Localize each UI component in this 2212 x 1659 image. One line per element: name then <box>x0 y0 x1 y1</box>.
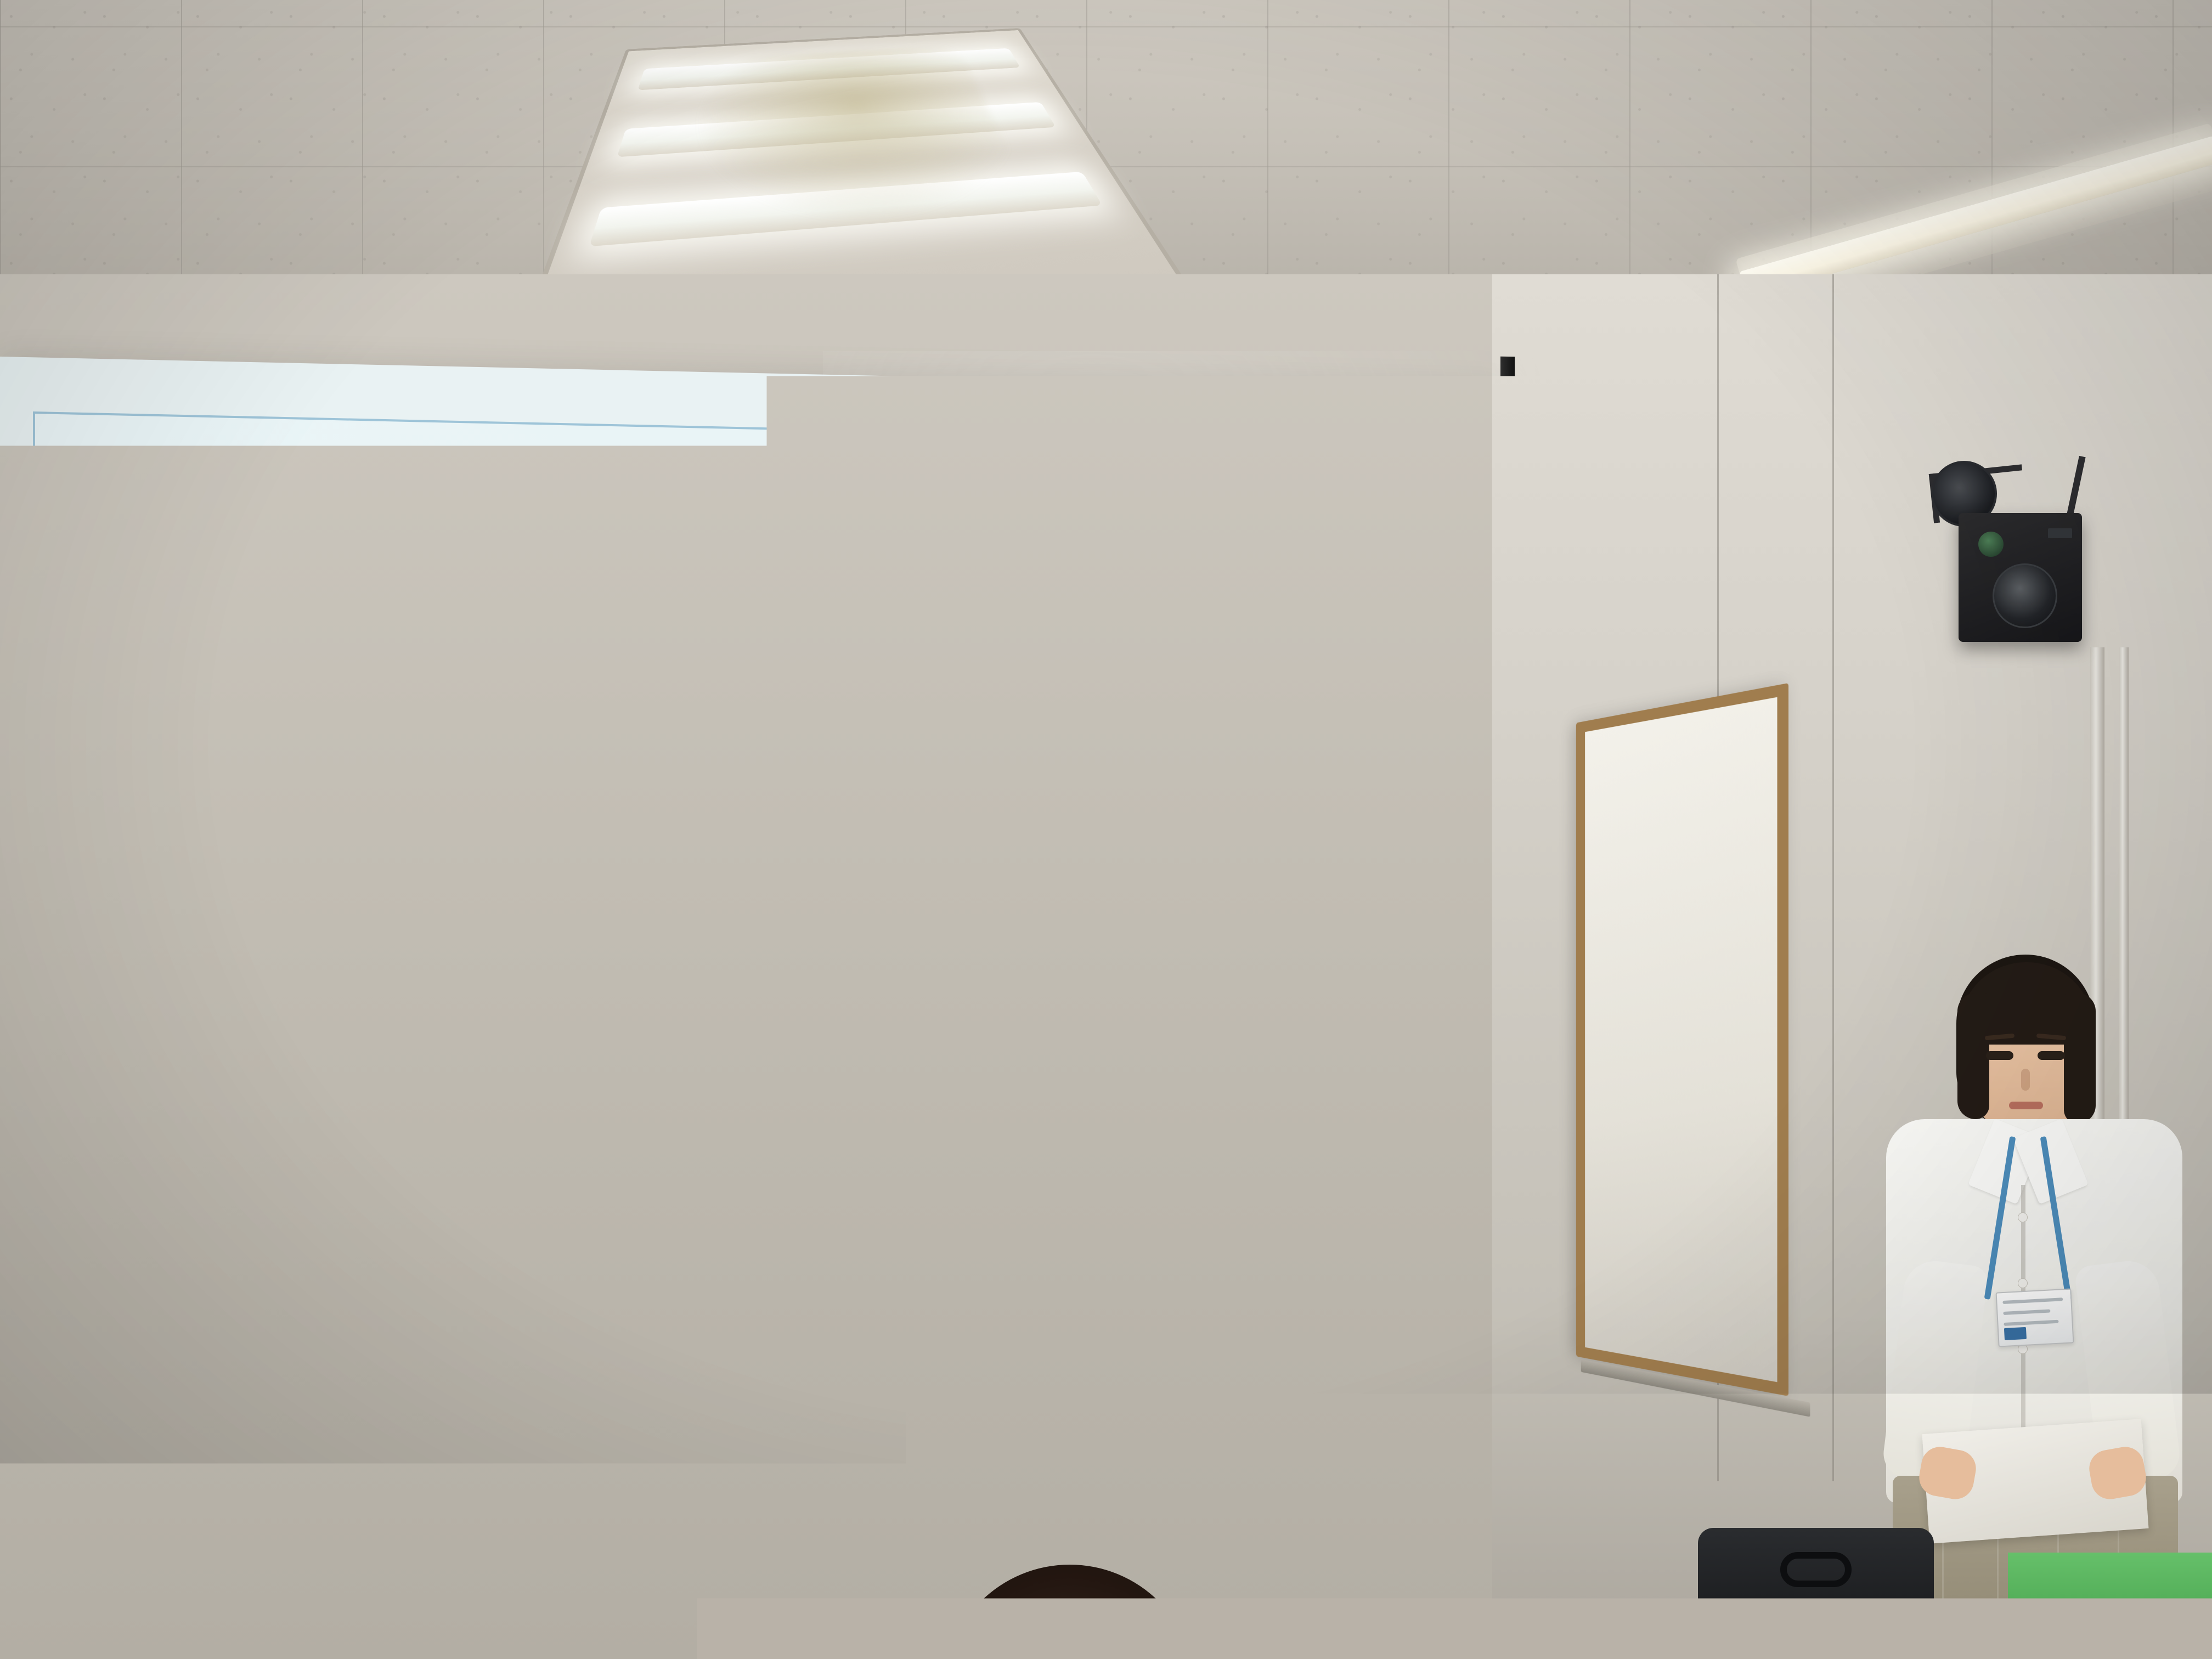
results-table: 単語単位 文単位 調査① 調査③ 調査① 調査③ <box>135 555 1078 899</box>
data-cell: 79.2% <box>398 769 568 795</box>
data-cell: 94.5% <box>738 730 908 757</box>
data-cell: 87.5% <box>568 657 738 684</box>
slide-title: 「文」単位の正答率の推移：恒吉2025b(単語単位の調査結果)との比較 <box>74 458 1197 533</box>
level-label-shokyu: 初級 <box>136 786 270 881</box>
presentation-slide: 「文」単位の正答率の推移：恒吉2025b(単語単位の調査結果)との比較 表2 単… <box>33 411 1462 1288</box>
pair-label: ゼ/ジェ <box>270 835 398 861</box>
header-blank-level-2 <box>136 579 270 605</box>
header-group-sentence-label: 文単位 <box>877 573 939 595</box>
header-blank-level <box>136 556 270 582</box>
data-cell: 100% <box>908 826 1078 853</box>
data-cell: 87.5% <box>908 664 1078 691</box>
pen-icon[interactable] <box>881 1131 892 1142</box>
pair-label: ザ/ジャ <box>270 789 398 815</box>
highlighted-value: 100% <box>970 830 1015 848</box>
data-cell: 91.7% <box>738 822 908 849</box>
data-cell: 85.5% <box>738 684 908 711</box>
data-cell: 87.5% <box>908 687 1078 714</box>
data-cell: 89.6% <box>738 615 908 642</box>
data-cell: 75% <box>908 710 1078 737</box>
data-cell: 63.9% <box>398 861 568 888</box>
data-cell: 58.4% <box>908 757 1078 783</box>
table-body: 上級ザ/ジャ87.5%87.5%89.6%75%ズ/ジュ95.9%100%91.… <box>136 602 1078 899</box>
data-cell: 87.5% <box>568 749 738 776</box>
pair-label: ソ/ジョ <box>270 674 398 699</box>
data-cell: 91.7% <box>738 868 908 895</box>
pair-label: ザ/ジャ <box>270 605 398 630</box>
data-cell: 91.7% <box>738 638 908 665</box>
data-cell: 75% <box>908 618 1078 645</box>
pair-label: ソ/ジョ <box>270 766 398 792</box>
data-cell: 91.7% <box>568 842 738 868</box>
presentation-toolbar[interactable] <box>874 1124 967 1150</box>
data-cell: 93.7% <box>908 641 1078 668</box>
pair-label: ソ/ジョ <box>270 858 398 884</box>
level-label-chukyu: 中級 <box>136 694 270 789</box>
pair-label: ゼ/ジェ <box>270 743 398 769</box>
data-cell: 100% <box>568 634 738 661</box>
data-cell: 91.1% <box>398 723 568 749</box>
data-cell: 90% <box>908 872 1078 899</box>
data-cell: 87.5% <box>568 772 738 799</box>
data-cell: 87.5% <box>568 611 738 638</box>
header-survey-3-sentence: 調査③ <box>908 595 1078 622</box>
highlighted-value: 100% <box>630 731 675 748</box>
header-group-word-label: 単語単位 <box>528 566 607 588</box>
pair-label: ズ/ジュ <box>270 812 398 838</box>
wall-seam <box>1832 274 1834 1481</box>
highlighted-value: 100% <box>630 685 675 702</box>
data-cell: 91.7% <box>568 795 738 822</box>
data-cell: 94.5% <box>398 815 568 842</box>
data-cell: 83.4% <box>398 838 568 865</box>
data-cell: 100% <box>568 680 738 707</box>
data-cell: 90% <box>908 849 1078 876</box>
data-cell: 100% <box>568 726 738 753</box>
data-cell: 66.7% <box>738 845 908 872</box>
highlighted-value: 100% <box>630 708 675 725</box>
slide-rule-under-title <box>33 542 1462 545</box>
header-blank-pair <box>270 558 398 584</box>
data-cell: 86.2% <box>398 792 568 819</box>
pair-label: ゼ/ジェ <box>270 651 398 676</box>
highlighted-value: 100% <box>630 639 675 656</box>
wall-speaker <box>1959 513 2082 642</box>
slide-notes: ① 単語単位では視覚を通した指導により誤聴が大きく改善される傾向があったが、文単… <box>69 979 1419 1165</box>
data-cell: 87.5% <box>398 607 568 634</box>
projection-screen: 「文」単位の正答率の推移：恒吉2025b(単語単位の調査結果)との比較 表2 単… <box>0 357 1553 1553</box>
data-cell: 95.9% <box>398 630 568 657</box>
header-survey-1-sentence: 調査① <box>738 592 908 619</box>
highlighted-value: 100% <box>630 823 675 840</box>
data-cell: 83.3% <box>568 865 738 891</box>
pair-label: ザ/ジャ <box>270 697 398 723</box>
data-cell: 90% <box>908 803 1078 830</box>
data-cell: 87.5% <box>398 653 568 680</box>
pair-label: ズ/ジュ <box>270 720 398 746</box>
data-cell: 75% <box>398 676 568 703</box>
data-cell: 75% <box>398 699 568 726</box>
highlighter-icon[interactable] <box>898 1131 909 1142</box>
header-survey-3-word: 調査③ <box>568 588 738 615</box>
more-icon[interactable] <box>949 1132 960 1143</box>
data-cell: 100% <box>568 703 738 730</box>
name-badge <box>1995 1288 2074 1347</box>
data-cell: 90% <box>738 799 908 826</box>
data-cell: 75% <box>908 780 1078 806</box>
data-cell: 77.8% <box>738 776 908 803</box>
floor <box>0 1553 2212 1659</box>
eraser-icon[interactable] <box>915 1132 926 1143</box>
whiteboard <box>1576 683 1788 1396</box>
table-caption: 表2 <box>57 563 116 617</box>
data-cell: 79.2% <box>398 746 568 772</box>
header-survey-1-word: 調査① <box>398 584 568 611</box>
data-cell: 100% <box>908 733 1078 760</box>
pointer-icon[interactable] <box>932 1132 943 1143</box>
data-cell: 86.2% <box>738 707 908 734</box>
pair-label: ズ/ジュ <box>270 628 398 653</box>
data-cell: 100% <box>568 819 738 845</box>
data-cell: 58.4% <box>738 753 908 780</box>
screen-right-edge <box>1500 357 1515 1520</box>
lecture-room-scene: 「文」単位の正答率の推移：恒吉2025b(単語単位の調査結果)との比較 表2 単… <box>0 0 2212 1659</box>
data-cell: 81.3% <box>738 661 908 688</box>
highlighted-value: 100% <box>970 738 1015 755</box>
header-blank-pair-2 <box>270 582 398 607</box>
level-label-jokyu: 上級 <box>136 602 270 697</box>
